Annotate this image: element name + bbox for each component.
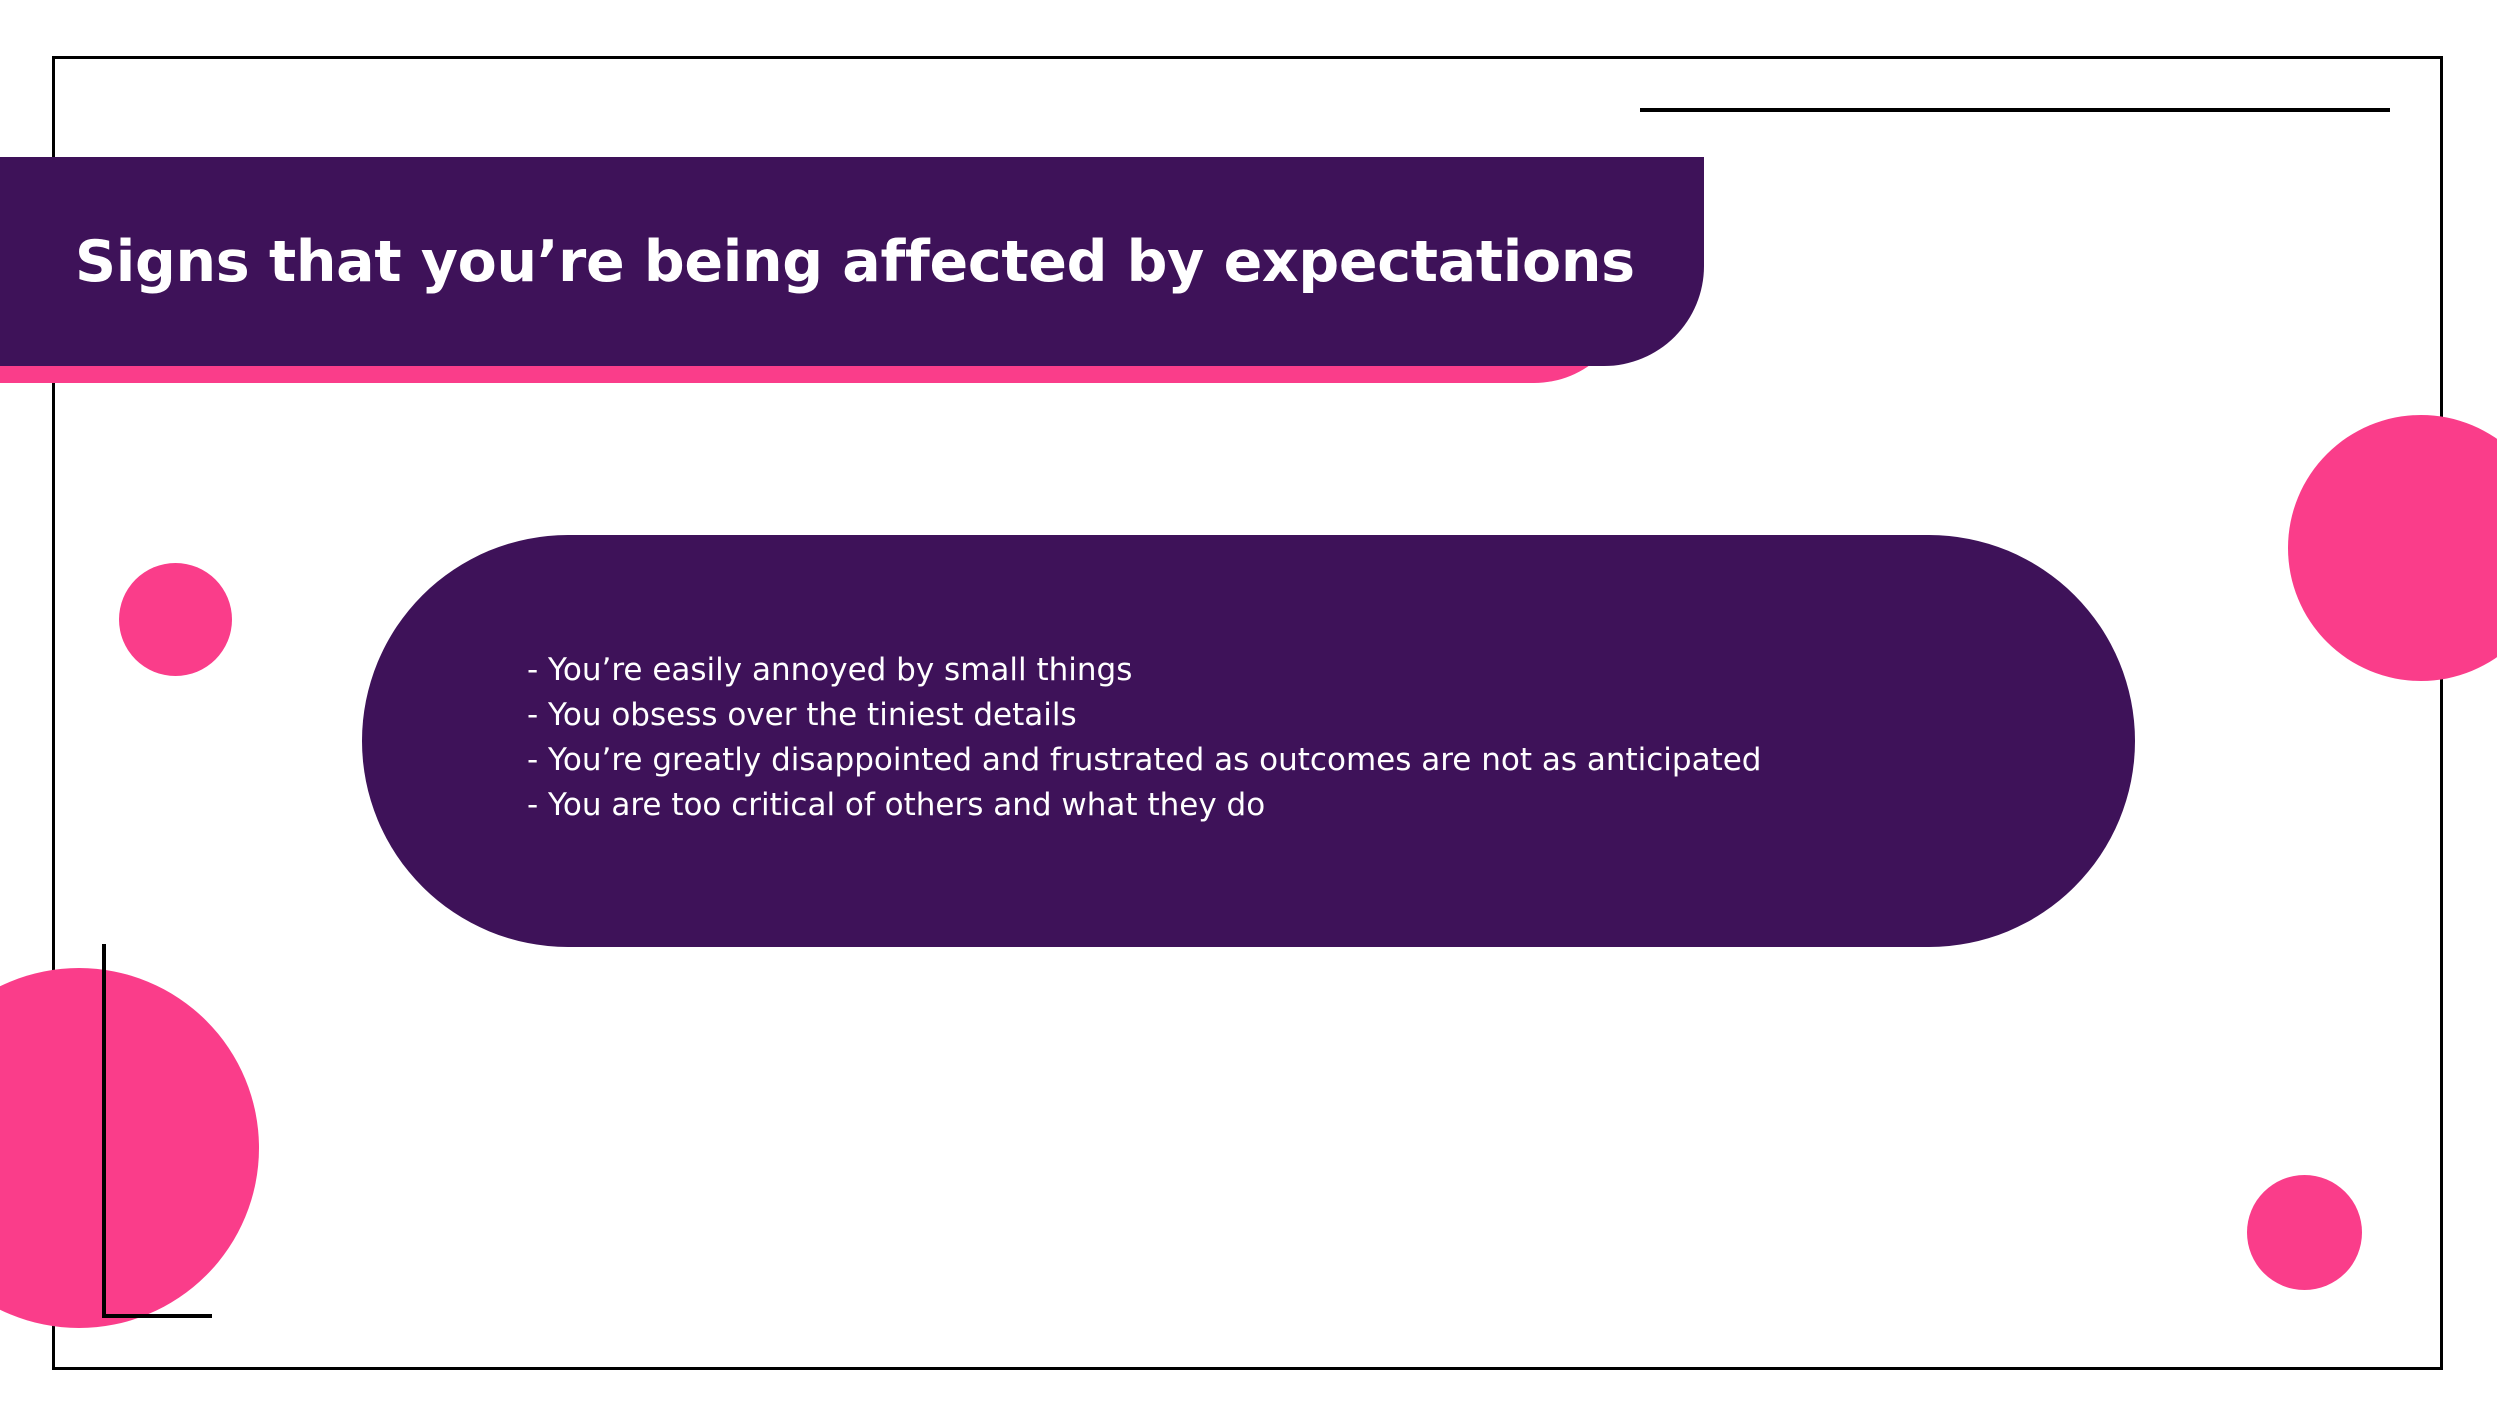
pink-circle-left-small	[119, 563, 232, 676]
header-banner-purple-panel: Signs that you’re being affected by expe…	[0, 157, 1704, 366]
top-right-accent-rule	[1640, 108, 2390, 112]
content-pill-panel: - You’re easily annoyed by small things …	[362, 535, 2135, 947]
header-banner: Signs that you’re being affected by expe…	[0, 157, 1704, 383]
pink-circle-bottom-right-small	[2247, 1175, 2362, 1290]
bottom-left-corner-bracket	[102, 944, 212, 1318]
list-item: - You’re easily annoyed by small things	[527, 648, 1761, 693]
pink-circle-right-large	[2288, 415, 2497, 681]
page-title: Signs that you’re being affected by expe…	[75, 229, 1635, 295]
list-item: - You are too critical of others and wha…	[527, 783, 1761, 828]
signs-bullet-list: - You’re easily annoyed by small things …	[527, 648, 1761, 828]
list-item: - You’re greatly disappointed and frustr…	[527, 738, 1761, 783]
slide-canvas: Signs that you’re being affected by expe…	[0, 0, 2497, 1426]
list-item: - You obsess over the tiniest details	[527, 693, 1761, 738]
